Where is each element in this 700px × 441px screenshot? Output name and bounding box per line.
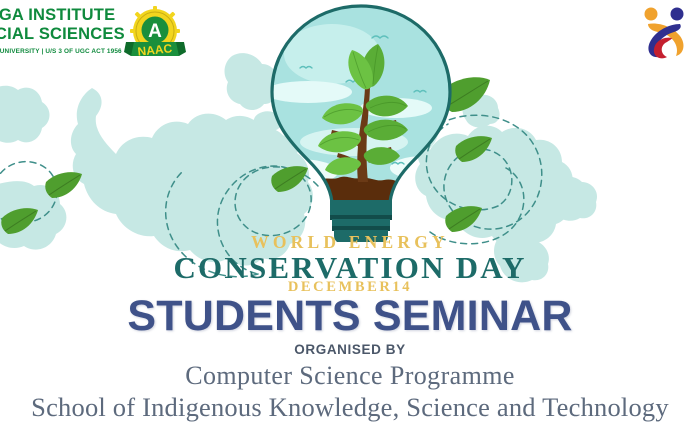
map-shape-right-penin	[549, 177, 598, 221]
organiser-school: School of Indigenous Knowledge, Science …	[0, 392, 700, 423]
naac-ribbon: NAAC	[124, 41, 186, 59]
light-bulb-illustration	[246, 0, 476, 242]
cloud-1	[264, 81, 352, 103]
logo-head-blue	[671, 8, 684, 21]
poster-canvas: INGA INSTITUTE OCIAL SCIENCES D BE UNIVE…	[0, 0, 700, 441]
naac-accreditation-badge: A NAAC	[124, 4, 186, 66]
organiser-programme: Computer Science Programme	[0, 361, 700, 391]
partner-logo-icon	[636, 2, 694, 60]
bulb-glass-interior	[258, 0, 458, 210]
map-shape-far-left	[0, 86, 49, 143]
naac-ribbon-label: NAAC	[137, 41, 173, 59]
floating-leaf-3	[45, 172, 82, 198]
naac-grade-letter: A	[148, 21, 162, 42]
headline-event: STUDENTS SEMINAR	[0, 293, 700, 340]
organised-by-label: ORGANISED BY	[0, 342, 700, 358]
headline-eyebrow: WORLD ENERGY	[0, 232, 700, 252]
logo-head-orange	[645, 8, 658, 21]
headline-block: WORLD ENERGY CONSERVATION DAY DECEMBER14…	[0, 232, 700, 423]
dashed-swirl-left-far	[0, 162, 57, 230]
floating-leaf-6	[1, 208, 38, 234]
